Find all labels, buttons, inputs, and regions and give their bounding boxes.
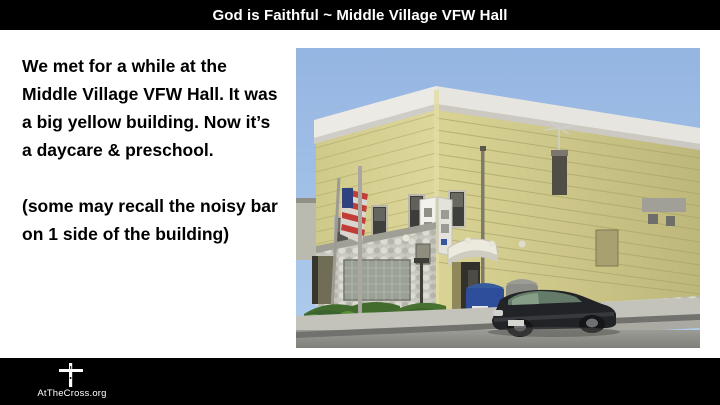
page-title: God is Faithful ~ Middle Village VFW Hal… xyxy=(212,7,507,24)
cross-icon xyxy=(54,362,88,388)
brand-name: AtTheCross.org xyxy=(24,388,120,399)
body-paragraph-1: We met for a while at the Middle Village… xyxy=(22,52,284,164)
body-paragraph-2: (some may recall the noisy bar on 1 side… xyxy=(22,192,284,248)
footer-bar: AtTheCross.org xyxy=(0,358,720,405)
brand-logo: AtTheCross.org xyxy=(24,362,120,402)
slide-text-column: We met for a while at the Middle Village… xyxy=(22,52,284,248)
slide-body: We met for a while at the Middle Village… xyxy=(0,30,720,358)
slide-title-bar: God is Faithful ~ Middle Village VFW Hal… xyxy=(0,0,720,30)
building-photo-illustration xyxy=(296,48,700,348)
building-photo xyxy=(296,48,700,348)
